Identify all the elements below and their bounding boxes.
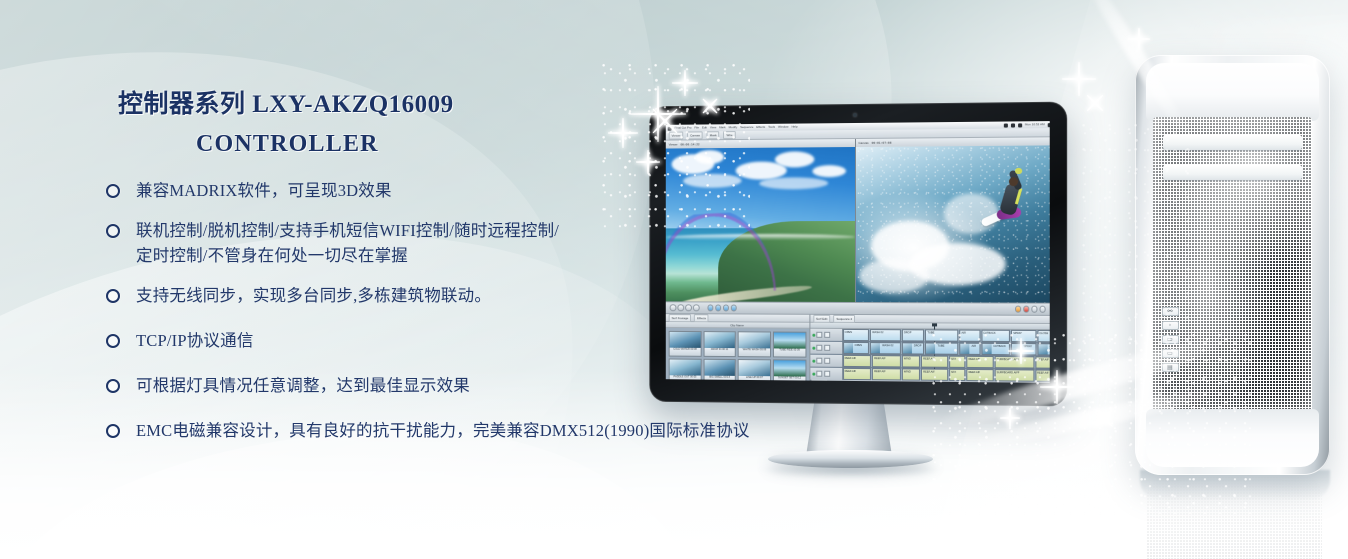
feature-list-item-label: 支持无线同步，实现多台同步,多栋建筑物联动。	[136, 283, 491, 308]
overwrite-button[interactable]	[1023, 306, 1030, 313]
feature-list-item-label: 兼容MADRIX软件，可呈现3D效果	[136, 178, 392, 203]
timeline-clip[interactable]: WIND	[902, 368, 920, 380]
feature-list-item: 兼容MADRIX软件，可呈现3D效果	[106, 178, 866, 218]
feature-list-item: 可根据灯具情况任意调整，达到最佳显示效果	[106, 373, 866, 418]
feature-list-item: 联机控制/脱机控制/支持手机短信WIFI控制/随时远程控制/ 定时控制/不管身在…	[106, 218, 866, 283]
timeline-clip-label: WIND	[904, 357, 911, 360]
surfer-glove	[1015, 168, 1022, 174]
volume-icon[interactable]	[1011, 123, 1015, 127]
replace-button[interactable]	[1031, 306, 1038, 313]
feature-list-item-label: EMC电磁兼容设计，具有良好的抗干扰能力，完美兼容DMX512(1990)国际标…	[136, 418, 750, 443]
timeline-clip-label: WIND	[904, 370, 911, 373]
feature-list-item: TCP/IP协议通信	[106, 328, 866, 373]
timeline-clip-thumbnail	[903, 343, 912, 353]
timeline-clip-label: DROP	[904, 331, 912, 334]
page-subtitle: CONTROLLER	[196, 131, 816, 158]
insert-button[interactable]	[1015, 306, 1022, 313]
viewer-pane-right[interactable]: Canvas 00:01:07:08	[855, 137, 1049, 302]
bullet-ring-icon	[106, 224, 120, 238]
feature-list-item: EMC电磁兼容设计，具有良好的抗干扰能力，完美兼容DMX512(1990)国际标…	[106, 418, 866, 458]
feature-list-item-label: 联机控制/脱机控制/支持手机短信WIFI控制/随时远程控制/ 定时控制/不管身在…	[136, 218, 559, 268]
menubar-status-area[interactable]: Mon 10:52 AM	[1003, 123, 1049, 128]
search-icon[interactable]	[1048, 123, 1050, 127]
bullet-ring-icon	[106, 424, 120, 438]
timeline-clip[interactable]: DROP	[902, 342, 925, 354]
text-content-area: 控制器系列 LXY-AKZQ16009 CONTROLLER 兼容MADRIX软…	[0, 0, 880, 559]
sparkle-star	[1079, 87, 1110, 118]
product-banner: ⚯ ◦ ▭ ▭ ▤ Final Cut Pro File Edit View M…	[0, 0, 1348, 559]
feature-list-item-label: TCP/IP协议通信	[136, 328, 254, 353]
timeline-clip[interactable]: DROP	[902, 329, 925, 341]
feature-list-item-label: 可根据灯具情况任意调整，达到最佳显示效果	[136, 373, 470, 398]
timeline-clip-label: DROP	[914, 344, 922, 347]
timeline-clip[interactable]: WIND	[902, 355, 920, 367]
bullet-ring-icon	[106, 379, 120, 393]
fit-to-fill-button[interactable]	[1039, 306, 1046, 313]
sparkle-star	[1062, 62, 1096, 96]
feature-list: 兼容MADRIX软件，可呈现3D效果联机控制/脱机控制/支持手机短信WIFI控制…	[106, 178, 866, 458]
wifi-icon[interactable]	[1018, 123, 1022, 127]
transport-right-buttons[interactable]	[1010, 306, 1049, 313]
surfer	[993, 168, 1038, 243]
feature-list-item: 支持无线同步，实现多台同步,多栋建筑物联动。	[106, 283, 866, 328]
bullet-ring-icon	[106, 184, 120, 198]
page-title: 控制器系列 LXY-AKZQ16009	[118, 84, 738, 120]
timeline-clip-label: WASH 02	[882, 344, 893, 347]
viewer-right-image	[855, 145, 1049, 302]
bluetooth-icon[interactable]	[1003, 123, 1007, 127]
bullet-ring-icon	[106, 289, 120, 303]
menubar-clock[interactable]: Mon 10:52 AM	[1025, 123, 1045, 126]
bullet-ring-icon	[106, 334, 120, 348]
